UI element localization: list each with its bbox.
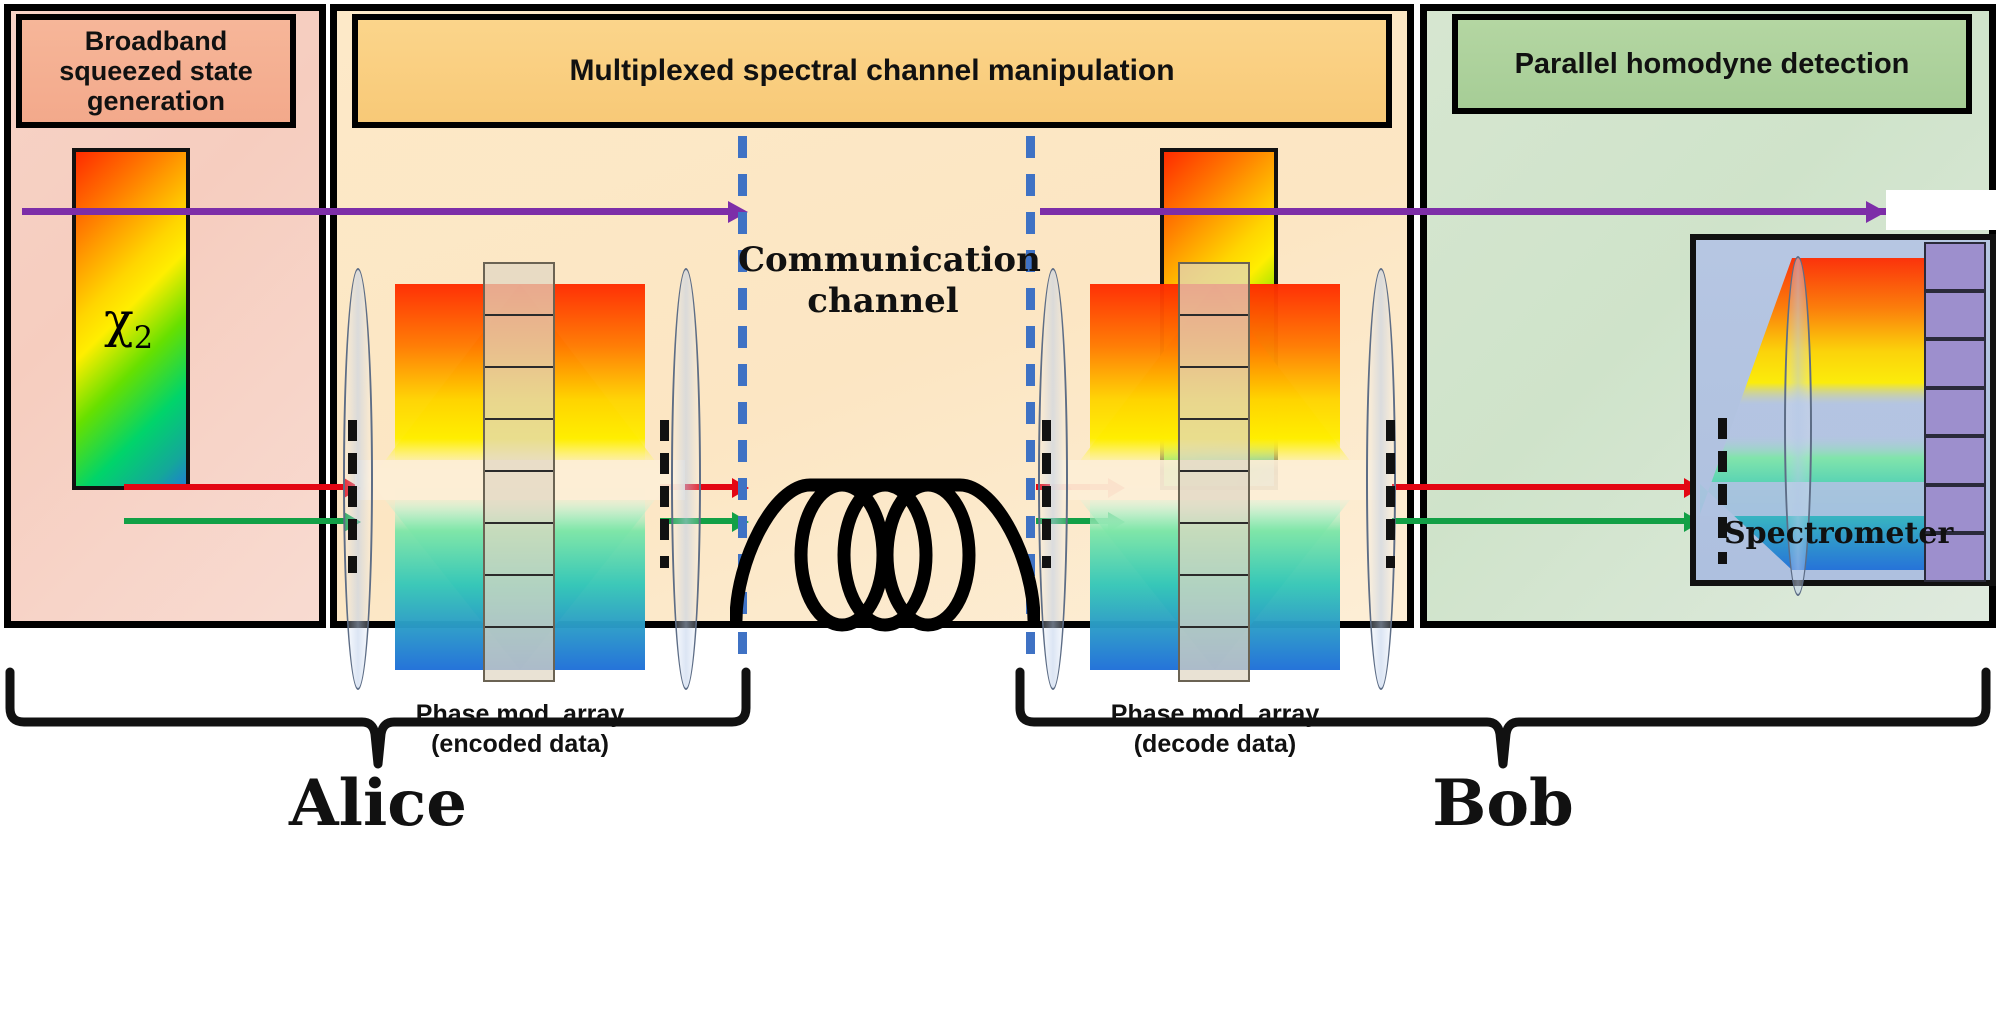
- grating-dot-pm1-left: [348, 556, 357, 578]
- spectrometer-label: Spectrometer: [1724, 516, 1953, 551]
- header-broadband-squeezed-state-generation: Broadband squeezed state generation: [16, 14, 296, 128]
- figure-canvas: Broadband squeezed state generation χ2 M…: [0, 0, 2000, 1029]
- phase-mod-cell[interactable]: [485, 472, 553, 524]
- header-multiplexed-spectral-channel-manipulation: Multiplexed spectral channel manipulatio…: [352, 14, 1392, 128]
- pump-beam-bob-segment: [1040, 208, 2000, 215]
- phase-modulator-array-encode[interactable]: [355, 262, 685, 682]
- detector-cell[interactable]: [1924, 388, 1986, 437]
- detector-cell[interactable]: [1924, 339, 1986, 388]
- detector-cell[interactable]: [1924, 436, 1986, 485]
- signal-beam-alice-to-pm: [124, 484, 346, 490]
- canvas-right-mask: [1886, 190, 2000, 230]
- grating-mark-pm2-left: [1042, 420, 1051, 550]
- chi2-label-alice: χ2: [104, 296, 153, 354]
- lens-right-encode: [671, 268, 701, 690]
- grating-mark-pm1-left: [348, 420, 357, 550]
- phase-mod-cell[interactable]: [485, 264, 553, 316]
- brace-label-alice: Alice: [228, 766, 528, 841]
- brace-bob: [1010, 660, 2000, 770]
- phase-mod-cell[interactable]: [1180, 472, 1248, 524]
- detector-cell[interactable]: [1924, 242, 1986, 291]
- phase-mod-cell-column-decode[interactable]: [1178, 262, 1250, 682]
- grating-dot-pm1-right: [660, 556, 669, 568]
- grating-mark-pm2-right: [1386, 420, 1395, 550]
- phase-modulator-array-decode[interactable]: [1050, 262, 1380, 682]
- phase-mod-cell[interactable]: [485, 368, 553, 420]
- pump-beam-alice-segment: [22, 208, 732, 215]
- header-alice-line2: squeezed state: [59, 56, 253, 86]
- detector-cell[interactable]: [1924, 291, 1986, 340]
- spectrometer-box[interactable]: Spectrometer: [1690, 234, 1996, 586]
- header-parallel-homodyne-detection: Parallel homodyne detection: [1452, 14, 1972, 114]
- phase-mod-cell[interactable]: [1180, 316, 1248, 368]
- phase-mod-cell[interactable]: [1180, 576, 1248, 628]
- idler-beam-alice-to-pm: [124, 518, 346, 524]
- header-alice-line3: generation: [59, 86, 253, 116]
- pump-beam-arrowhead-right: [1866, 201, 1886, 223]
- brace-alice: [0, 660, 760, 770]
- grating-mark-pm1-right: [660, 420, 669, 550]
- phase-mod-cell[interactable]: [1180, 264, 1248, 316]
- phase-mod-cell[interactable]: [485, 576, 553, 628]
- header-alice-line1: Broadband: [59, 26, 253, 56]
- phase-mod-cell-column-encode[interactable]: [483, 262, 555, 682]
- grating-dot-pm2-right: [1386, 556, 1395, 568]
- communication-channel-line1: Communication: [738, 240, 1028, 281]
- canvas-right-edge-mask: [1996, 0, 2000, 640]
- communication-channel-label: Communication channel: [738, 240, 1028, 322]
- signal-beam-pm2-to-spectrometer: [1392, 484, 1690, 490]
- phase-mod-cell[interactable]: [1180, 368, 1248, 420]
- phase-mod-cell[interactable]: [1180, 420, 1248, 472]
- phase-mod-cell[interactable]: [485, 316, 553, 368]
- grating-mark-spectrometer: [1718, 418, 1727, 546]
- phase-mod-cell[interactable]: [485, 524, 553, 576]
- phase-mod-cell[interactable]: [485, 420, 553, 472]
- idler-beam-pm2-to-spectrometer: [1392, 518, 1690, 524]
- grating-dot-pm2-left: [1042, 556, 1051, 568]
- brace-label-bob: Bob: [1353, 766, 1653, 841]
- phase-mod-cell[interactable]: [1180, 524, 1248, 576]
- optical-fiber-coil-icon: [730, 465, 1040, 640]
- grating-dot-spectrometer: [1718, 552, 1727, 564]
- communication-channel-line2: channel: [738, 281, 1028, 322]
